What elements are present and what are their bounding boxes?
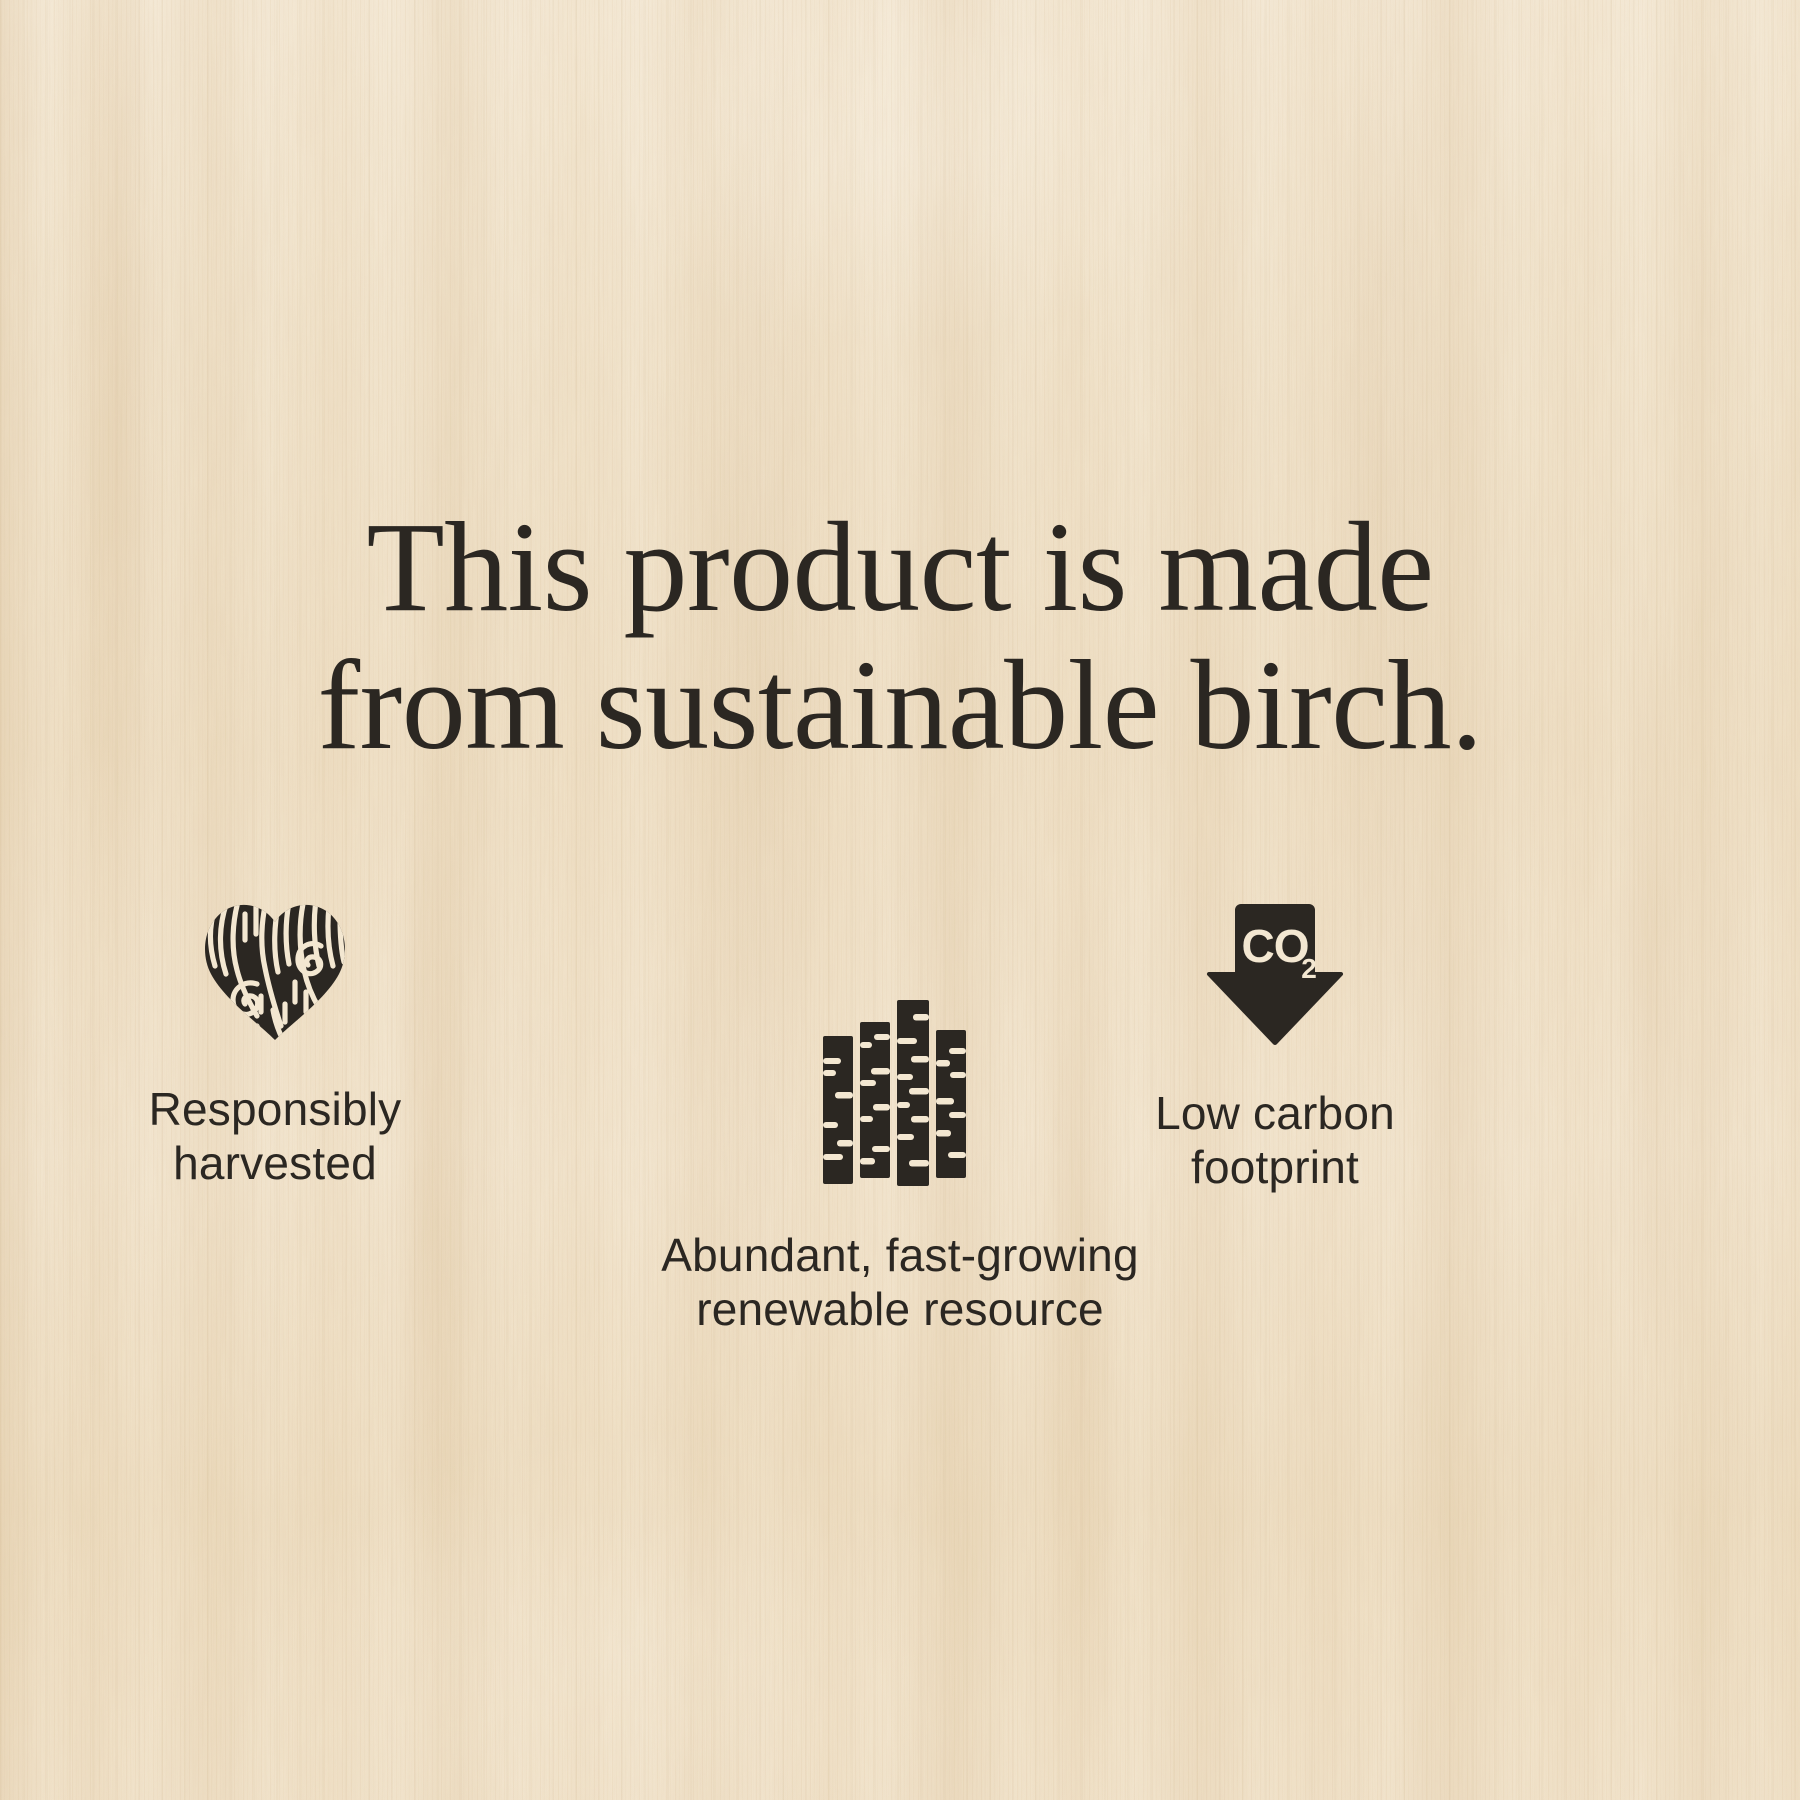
feature-caption-line-2: harvested <box>90 1136 460 1190</box>
headline-line-2: from sustainable birch. <box>150 636 1650 774</box>
headline-line-1: This product is made <box>150 498 1650 636</box>
feature-caption: Abundant, fast-growing renewable resourc… <box>610 1228 1190 1337</box>
feature-caption-line-2: renewable resource <box>610 1282 1190 1336</box>
feature-list: Responsibly harvested <box>0 900 1800 1420</box>
poster-content: This product is made from sustainable bi… <box>0 0 1800 1800</box>
co2-subscript: 2 <box>1301 953 1317 984</box>
birch-logs-icon <box>821 1000 979 1186</box>
feature-caption-line-1: Responsibly <box>90 1082 460 1136</box>
page-title: This product is made from sustainable bi… <box>0 498 1800 774</box>
co2-down-arrow-icon: CO 2 <box>1201 900 1349 1048</box>
feature-caption-line-1: Abundant, fast-growing <box>610 1228 1190 1282</box>
feature-caption: Low carbon footprint <box>1090 1086 1460 1195</box>
feature-caption-line-1: Low carbon <box>1090 1086 1460 1140</box>
feature-caption: Responsibly harvested <box>90 1082 460 1191</box>
birch-panel: This product is made from sustainable bi… <box>0 0 1800 1800</box>
feature-caption-line-2: footprint <box>1090 1140 1460 1194</box>
feature-low-carbon-footprint: CO 2 Low carbon footprint <box>1090 900 1460 1195</box>
co2-label: CO <box>1242 920 1309 972</box>
feature-responsibly-harvested: Responsibly harvested <box>90 900 460 1191</box>
wood-grain-heart-icon <box>199 900 351 1042</box>
